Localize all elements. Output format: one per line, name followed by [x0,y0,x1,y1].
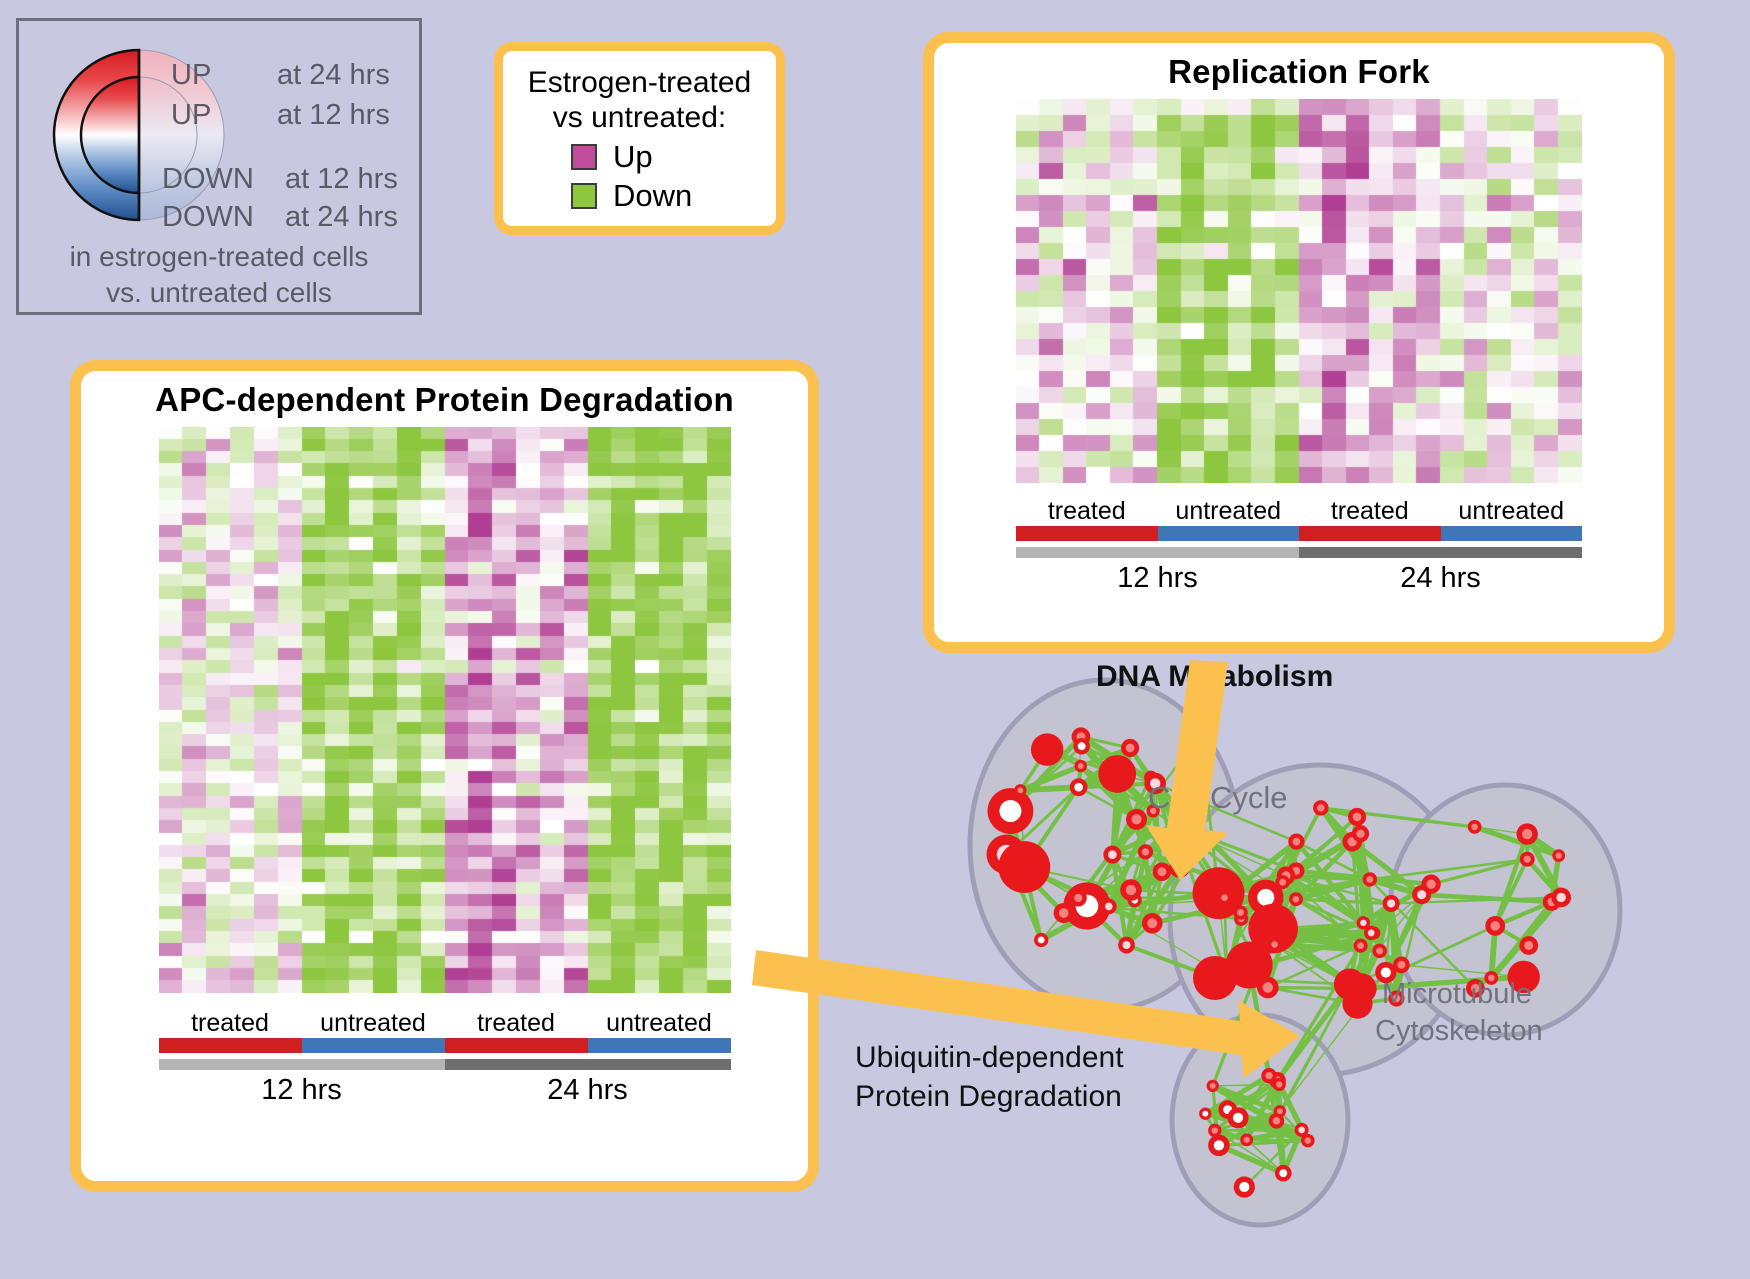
network-node[interactable] [1383,895,1400,912]
node-inner-fill [1273,1117,1280,1124]
time-color-swatch [1016,547,1299,558]
network-node[interactable] [1372,944,1387,959]
node-inner-fill [1387,899,1395,907]
node-inner-fill [1353,813,1362,822]
panel-replication-fork: Replication Fork treateduntreatedtreated… [923,32,1675,653]
node-inner-fill [1471,824,1478,831]
network-node[interactable] [1354,939,1368,953]
time-color-swatch [159,1059,445,1070]
node-inner-fill [1257,889,1274,906]
network-node[interactable] [1485,916,1505,936]
node-inner-fill [1237,909,1244,916]
node-inner-fill [1556,853,1562,859]
node-inner-fill [1426,880,1435,889]
cluster-label-cell-cycle: Cell Cycle [1148,780,1288,816]
legend-label-down: Down [613,178,692,214]
time-label: 12 hrs [159,1074,445,1107]
node-inner-fill [1524,856,1531,863]
node-inner-fill [1126,744,1135,753]
node-inner-fill [1202,1111,1208,1117]
network-node[interactable] [1257,977,1279,999]
panel-title-replication-fork: Replication Fork [934,53,1664,91]
key-ring-time-down-12: at 12 hrs [285,163,398,196]
time-label: 24 hrs [445,1074,731,1107]
node-inner-fill [1368,930,1375,937]
node-inner-fill [1490,921,1500,931]
network-node[interactable] [1551,888,1571,908]
network-node[interactable] [1031,733,1063,765]
node-inner-fill [1293,896,1300,903]
node-inner-fill [1199,834,1208,843]
group-label: untreated [302,1009,445,1038]
node-inner-fill [1122,941,1130,949]
node-inner-fill [1078,742,1086,750]
node-inner-fill [1397,961,1405,969]
node-outer-ring [1031,733,1063,765]
network-node[interactable] [1348,808,1366,826]
column-group-labels-apc: treateduntreatedtreateduntreated [159,1009,731,1038]
network-node[interactable] [1142,913,1163,934]
network-node[interactable] [1227,1107,1248,1128]
network-node[interactable] [1468,820,1482,834]
network-node[interactable] [1054,903,1074,923]
group-label: treated [1299,497,1441,526]
network-node[interactable] [1208,1135,1230,1157]
node-inner-fill [1279,1169,1287,1177]
network-node[interactable] [1295,1123,1309,1137]
network-node[interactable] [1169,857,1190,878]
time-label: 24 hrs [1299,562,1582,595]
key-footer: in estrogen-treated cells vs. untreated … [19,239,419,311]
group-color-swatch [445,1038,588,1053]
node-inner-fill [1276,1081,1282,1087]
network-node[interactable] [1199,1108,1211,1120]
group-label: untreated [1441,497,1583,526]
cluster-label-microtubule-line2: Cytoskeleton [1375,1015,1543,1048]
key-ring-time-down-24: at 24 hrs [285,201,398,234]
network-node[interactable] [1352,825,1369,842]
network-node[interactable] [1120,879,1142,901]
node-inner-fill [1263,982,1273,992]
network-node[interactable] [1516,823,1537,844]
network-node[interactable] [1168,819,1180,831]
node-inner-fill [1366,876,1373,883]
node-inner-fill [1212,1127,1218,1133]
node-outer-ring [1098,755,1136,793]
network-node[interactable] [1070,778,1088,796]
key-ring-label-up-12: UP [171,99,211,132]
key-ring-label-down-24: DOWN [162,201,254,234]
node-inner-fill [1131,814,1141,824]
node-inner-fill [1239,1182,1249,1192]
up-down-legend-card: Estrogen-treated vs untreated: Up Down [494,42,785,235]
key-footer-line2: vs. untreated cells [19,275,419,311]
node-inner-fill [1221,894,1228,901]
network-node[interactable] [1070,889,1087,906]
node-inner-fill [1147,918,1157,928]
network-node[interactable] [1313,800,1329,816]
timepoint-labels-replication-fork: 12 hrs24 hrs [1016,562,1582,595]
group-color-swatch [159,1038,302,1053]
legend-label-up: Up [613,139,653,175]
node-inner-fill [1175,862,1185,872]
key-footer-line1: in estrogen-treated cells [19,239,419,275]
node-inner-fill [1317,804,1324,811]
key-ring-label-up-24: UP [171,59,211,92]
network-node[interactable] [998,841,1050,893]
time-label: 12 hrs [1016,562,1299,595]
key-ring-label-down-12: DOWN [162,163,254,196]
node-inner-fill [1298,1127,1305,1134]
group-color-swatch [1299,526,1441,541]
node-inner-fill [1074,894,1082,902]
network-node[interactable] [1357,916,1370,929]
network-node[interactable] [1126,809,1147,830]
panel-apc-dependent-protein-degradation: APC-dependent Protein Degradation treate… [70,360,819,1192]
network-node[interactable] [1121,739,1139,757]
timepoint-color-bar-apc [159,1059,731,1070]
node-inner-fill [1271,941,1278,948]
network-node[interactable] [1234,1176,1255,1197]
network-node[interactable] [1118,937,1135,954]
network-node[interactable] [1193,956,1237,1000]
node-inner-fill [1305,1137,1311,1143]
group-color-swatch [1441,526,1583,541]
time-color-swatch [1299,547,1582,558]
legend-row-down: Down [571,178,776,214]
key-ring-time-up-12: at 12 hrs [277,99,390,132]
network-node[interactable] [1098,755,1136,793]
group-color-swatch [302,1038,445,1053]
node-outer-ring [1193,956,1237,1000]
network-node[interactable] [1101,899,1117,915]
node-inner-fill [1017,787,1023,793]
node-inner-fill [1142,848,1149,855]
node-inner-fill [1108,850,1117,859]
network-node[interactable] [1240,1133,1253,1146]
group-label: untreated [1158,497,1300,526]
node-outer-ring [1334,968,1366,1000]
group-label: untreated [588,1009,731,1038]
network-node[interactable] [1074,760,1086,772]
node-inner-fill [1126,885,1136,895]
node-inner-fill [1524,941,1533,950]
legend-title-line2: vs untreated: [503,100,776,135]
network-node[interactable] [988,788,1034,834]
node-inner-fill [1244,1137,1250,1143]
network-node[interactable] [1191,726,1209,744]
legend-swatch-up [571,144,597,170]
network-node[interactable] [1363,872,1377,886]
network-node[interactable] [1274,1105,1286,1117]
network-node[interactable] [1073,738,1089,754]
node-inner-fill [1105,903,1113,911]
color-key-box: UP at 24 hrs UP at 12 hrs DOWN at 12 hrs… [16,18,422,315]
timepoint-labels-apc: 12 hrs24 hrs [159,1074,731,1107]
node-inner-fill [1196,731,1205,740]
heatmap-apc-dependent-protein-degradation [159,427,731,993]
treatment-color-bar-replication-fork [1016,526,1582,541]
network-node[interactable] [1153,862,1172,881]
node-inner-fill [1078,763,1084,769]
legend-title: Estrogen-treated vs untreated: [503,51,776,136]
node-inner-fill [1293,838,1301,846]
network-node[interactable] [1289,892,1303,906]
group-color-swatch [1016,526,1158,541]
node-inner-fill [1157,867,1166,876]
network-node[interactable] [1261,1068,1276,1083]
node-inner-fill [1279,879,1286,886]
legend-row-up: Up [571,139,776,175]
pathway-network-diagram [900,620,1750,1279]
node-inner-fill [1265,1072,1272,1079]
network-node[interactable] [1233,905,1247,919]
node-inner-fill [1074,783,1083,792]
cluster-label-ubiquitin-line2: Protein Degradation [855,1080,1122,1114]
node-inner-fill [1038,937,1045,944]
group-label: treated [1016,497,1158,526]
group-color-swatch [1158,526,1300,541]
network-node[interactable] [1014,784,1026,796]
network-node[interactable] [1288,834,1304,850]
network-edge [1215,1130,1302,1131]
cluster-label-dna-metabolism: DNA Metabolism [1096,660,1333,694]
cluster-label-ubiquitin-line1: Ubiquitin-dependent [855,1041,1124,1075]
network-node[interactable] [1552,849,1565,862]
network-node[interactable] [1194,830,1212,848]
legend-title-line1: Estrogen-treated [503,65,776,100]
node-inner-fill [1210,1083,1216,1089]
network-node[interactable] [1208,1124,1221,1137]
treatment-color-bar-apc [159,1038,731,1053]
group-label: treated [445,1009,588,1038]
heatmap-replication-fork [1016,99,1582,483]
node-inner-fill [1277,1108,1283,1114]
network-node[interactable] [1138,844,1153,859]
node-inner-fill [1381,967,1391,977]
network-node[interactable] [1520,852,1535,867]
node-inner-fill [1357,942,1364,949]
node-inner-fill [1522,829,1532,839]
cluster-label-microtubule-line1: Microtubule [1382,978,1532,1011]
network-node[interactable] [1421,875,1440,894]
node-inner-fill [1376,947,1383,954]
node-inner-fill [1233,1113,1243,1123]
node-inner-fill [1360,920,1366,926]
column-group-labels-replication-fork: treateduntreatedtreateduntreated [1016,497,1582,526]
node-outer-ring [998,841,1050,893]
network-node[interactable] [1218,891,1232,905]
legend-swatch-down [571,183,597,209]
node-inner-fill [999,800,1021,822]
network-node[interactable] [1207,1080,1219,1092]
network-node[interactable] [1103,846,1121,864]
network-node[interactable] [1519,936,1538,955]
group-color-swatch [588,1038,731,1053]
network-node[interactable] [1334,968,1366,1000]
network-node[interactable] [1034,933,1048,947]
network-node[interactable] [1275,875,1289,889]
node-inner-fill [1214,1140,1224,1150]
node-inner-fill [1356,830,1364,838]
node-inner-fill [1556,893,1565,902]
network-node[interactable] [1275,1165,1292,1182]
timepoint-color-bar-replication-fork [1016,547,1582,558]
group-label: treated [159,1009,302,1038]
network-node[interactable] [1268,938,1282,952]
panel-title-apc: APC-dependent Protein Degradation [81,381,808,419]
node-inner-fill [1171,822,1177,828]
key-ring-time-up-24: at 24 hrs [277,59,390,92]
time-color-swatch [445,1059,731,1070]
node-inner-fill [1059,908,1069,918]
